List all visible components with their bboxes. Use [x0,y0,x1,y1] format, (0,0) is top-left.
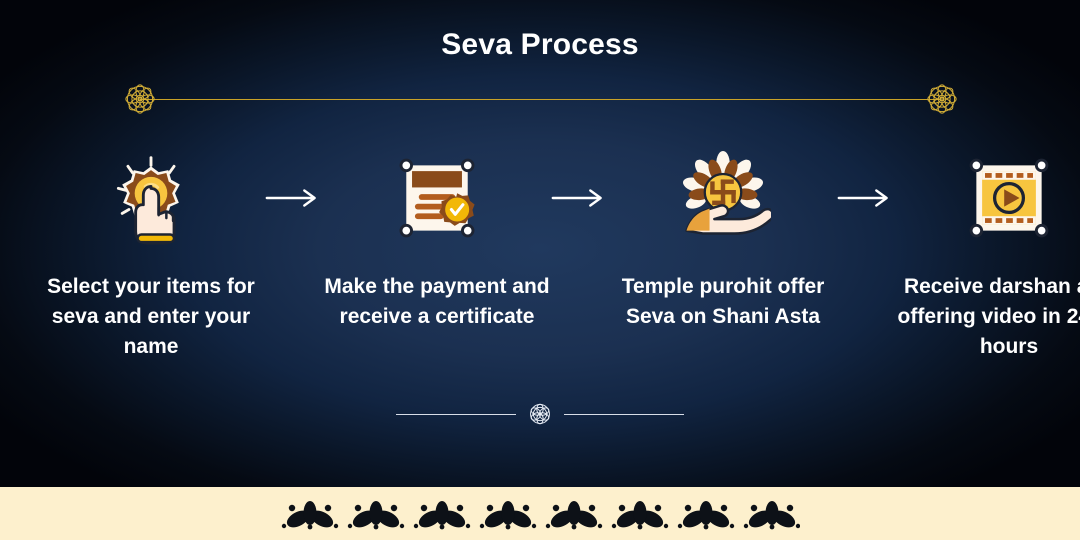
arrow-right-icon-3 [834,148,898,248]
steps-row: Select your items for seva and enter you… [40,148,1040,362]
mandala-rosette-icon-left [122,81,158,117]
rosette-icon [526,400,554,428]
divider-line-right [564,414,684,415]
video-play-icon [959,148,1059,248]
bottom-cream-band [0,487,1080,540]
step-label-3: Temple purohit offer Seva on Shani Asta [603,272,843,332]
hand-swastika-offering-icon [673,148,773,248]
mandala-rosette-icon-right [924,81,960,117]
step-item-2: Make the payment and receive a certifica… [326,148,548,332]
arrow-right-icon-1 [262,148,326,248]
step-label-1: Select your items for seva and enter you… [31,272,271,362]
step-item-3: Temple purohit offer Seva on Shani Asta [612,148,834,332]
seva-process-poster: Seva Process [0,0,1080,540]
arrow-right-icon-2 [548,148,612,248]
tap-select-icon [101,148,201,248]
divider-line-left [396,414,516,415]
page-title: Seva Process [0,28,1080,62]
bottom-divider [0,400,1080,428]
top-gold-rule [140,99,940,100]
paisley-floral-motif [0,487,1080,540]
step-item-1: Select your items for seva and enter you… [40,148,262,362]
certificate-seal-icon [387,148,487,248]
step-label-2: Make the payment and receive a certifica… [317,272,557,332]
step-label-4: Receive darshan and offering video in 24… [889,272,1080,362]
step-item-4: Receive darshan and offering video in 24… [898,148,1080,362]
